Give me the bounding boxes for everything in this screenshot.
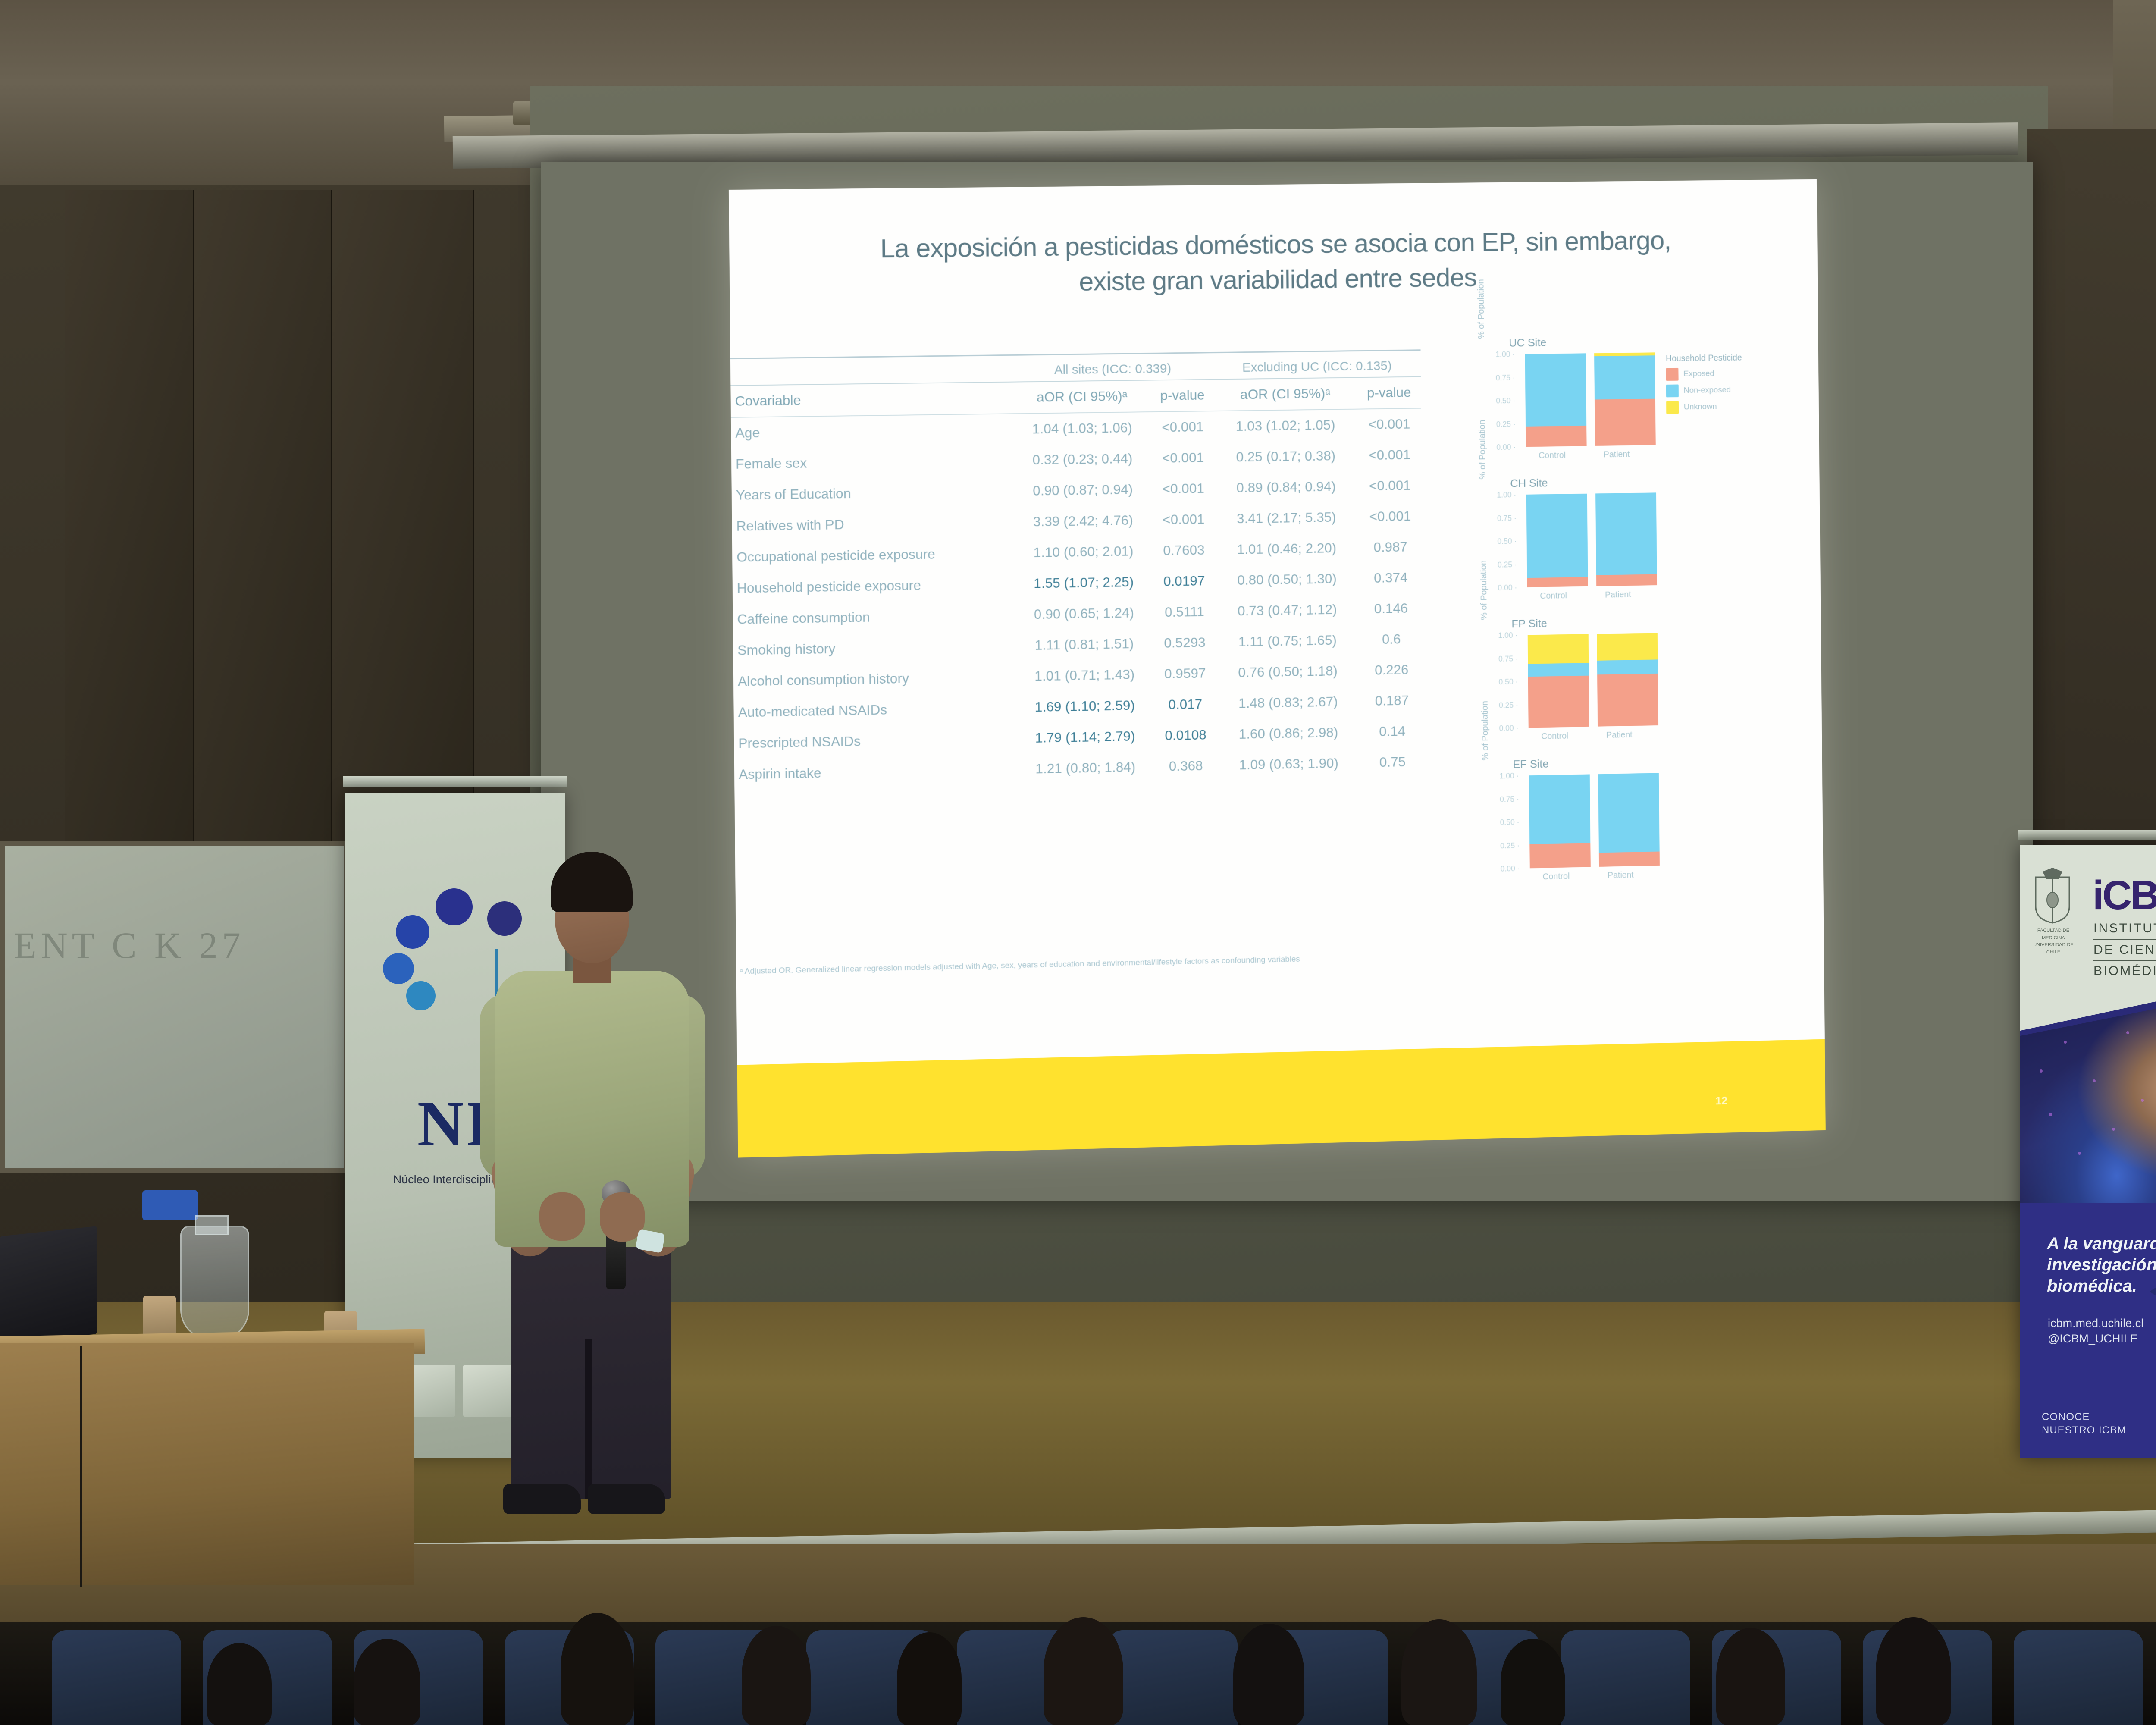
y-tick-label: 0.50 ·: [1497, 537, 1517, 546]
row-all-aor: 0.32 (0.23; 0.44): [1013, 443, 1152, 476]
row-exc-aor: 1.09 (0.63; 1.90): [1217, 747, 1361, 781]
stacked-bar: [1594, 352, 1656, 446]
row-exc-aor: 1.60 (0.86; 2.98): [1216, 717, 1360, 750]
x-tick-label: Control: [1523, 591, 1584, 602]
row-all-aor: 1.10 (0.60; 2.01): [1014, 535, 1153, 568]
site-chart-ch: % of PopulationCH Site0.00 ·0.25 ·0.50 ·…: [1477, 472, 1809, 613]
y-tick-label: 0.50 ·: [1496, 396, 1515, 405]
audience-seat-row: [0, 1626, 2156, 1725]
row-covariable: Female sex: [731, 445, 1013, 480]
conference-photo-scene: ENT C K 27 La exposición a pesticidas do…: [0, 0, 2156, 1725]
legend-swatch: [1666, 384, 1679, 397]
audience-member: [1233, 1624, 1304, 1725]
y-tick-label: 0.50 ·: [1498, 677, 1518, 687]
stacked-bar: [1529, 774, 1591, 868]
row-covariable: Age: [731, 414, 1013, 449]
chart-title: UC Site: [1509, 336, 1547, 350]
row-exc-aor: 0.25 (0.17; 0.38): [1214, 440, 1358, 473]
stacked-bar: [1526, 494, 1588, 587]
y-tick-label: 0.25 ·: [1496, 420, 1516, 429]
row-all-pvalue: 0.9597: [1154, 658, 1216, 690]
row-covariable: Smoking history: [733, 630, 1015, 666]
results-table: All sites (ICC: 0.339) Excluding UC (ICC…: [730, 349, 1425, 790]
row-exc-pvalue: 0.75: [1360, 746, 1425, 778]
y-tick-label: 0.00 ·: [1501, 864, 1520, 874]
banner-contact: icbm.med.uchile.cl @ICBM_UCHILE: [2048, 1315, 2156, 1347]
row-all-aor: 1.21 (0.80; 1.84): [1016, 751, 1155, 785]
legend-swatch: [1666, 401, 1679, 414]
right-banner-pole: [2018, 830, 2156, 840]
site-chart-ef: % of PopulationEF Site0.00 ·0.25 ·0.50 ·…: [1480, 751, 1811, 894]
row-covariable: Years of Education: [731, 476, 1013, 511]
col-exc-pvalue: p-value: [1357, 376, 1421, 409]
audience-member: [1876, 1617, 1951, 1725]
chart-y-ticks: 0.00 ·0.25 ·0.50 ·0.75 ·1.00 ·: [1490, 354, 1518, 447]
cable: [80, 1345, 82, 1587]
row-all-pvalue: 0.017: [1154, 688, 1216, 720]
audience-member: [1716, 1628, 1785, 1725]
col-all-pvalue: p-value: [1151, 379, 1213, 411]
bar-segment-exposed: [1599, 852, 1660, 867]
chart-y-ticks: 0.00 ·0.25 ·0.50 ·0.75 ·1.00 ·: [1492, 635, 1521, 728]
audience-seat: [2014, 1630, 2143, 1725]
bar-segment-exposed: [1595, 399, 1656, 446]
y-tick-label: 0.75 ·: [1498, 654, 1518, 664]
audience-member: [354, 1639, 420, 1725]
y-tick-label: 0.00 ·: [1498, 583, 1517, 592]
presenter-shirt: [495, 971, 689, 1247]
bar-segment-non-exposed: [1529, 774, 1591, 844]
row-exc-aor: 1.48 (0.83; 2.67): [1216, 686, 1360, 719]
row-covariable: Prescripted NSAIDs: [734, 723, 1016, 759]
row-exc-aor: 0.76 (0.50; 1.18): [1216, 655, 1360, 688]
y-tick-label: 0.00 ·: [1496, 443, 1516, 452]
left-banner-pole: [343, 776, 567, 787]
banner-qr-caption: CONOCE NUESTRO ICBM: [2042, 1410, 2126, 1437]
laptop: [0, 1226, 97, 1344]
bar-segment-exposed: [1596, 574, 1657, 586]
col-all-aor: aOR (CI 95%)ᵃ: [1012, 380, 1151, 414]
y-tick-label: 1.00 ·: [1498, 631, 1517, 640]
bar-segment-non-exposed: [1526, 494, 1588, 578]
row-all-pvalue: 0.7603: [1153, 534, 1215, 566]
row-covariable: Auto-medicated NSAIDs: [733, 692, 1015, 728]
audience-seat: [1108, 1630, 1238, 1725]
chart-title: FP Site: [1511, 617, 1547, 630]
icbm-logo: iCBM.: [2093, 872, 2156, 919]
row-exc-pvalue: <0.001: [1357, 439, 1422, 470]
row-all-pvalue: 0.368: [1155, 750, 1217, 782]
table-footnote: ᵃ Adjusted OR. Generalized linear regres…: [740, 951, 1413, 978]
banner-header-block: FACULTAD DE MEDICINA UNIVERSIDAD DE CHIL…: [2020, 845, 2156, 1031]
banner-tagline: A la vanguardia de la investigación biom…: [2047, 1233, 2156, 1296]
audience-seat: [52, 1630, 181, 1725]
chart-plot-area: [1525, 773, 1664, 868]
whiteboard-text: ENT C K 27: [14, 924, 245, 967]
banner-website: icbm.med.uchile.cl: [2048, 1315, 2156, 1331]
row-all-pvalue: <0.001: [1152, 442, 1214, 474]
row-exc-aor: 0.89 (0.84; 0.94): [1214, 471, 1358, 504]
y-tick-label: 1.00 ·: [1495, 350, 1515, 359]
x-tick-label: Control: [1522, 450, 1583, 461]
stacked-bar: [1597, 633, 1658, 726]
chart-y-ticks: 0.00 ·0.25 ·0.50 ·0.75 ·1.00 ·: [1491, 495, 1520, 588]
row-exc-pvalue: 0.226: [1360, 654, 1424, 686]
chart-ylabel: % of Population: [1477, 401, 1488, 499]
row-all-pvalue: 0.0197: [1153, 565, 1215, 597]
row-exc-aor: 0.80 (0.50; 1.30): [1215, 563, 1359, 596]
institute-line-3: BIOMÉDICAS: [2093, 962, 2156, 982]
chart-ylabel: % of Population: [1476, 260, 1487, 358]
row-all-aor: 1.11 (0.81; 1.51): [1015, 628, 1154, 661]
legend-title: Household Pesticide: [1666, 353, 1742, 364]
presenter-leg-split: [585, 1339, 592, 1499]
row-covariable: Household pesticide exposure: [733, 568, 1015, 604]
presenter-desk: [0, 1343, 414, 1585]
presenter-shoe-right: [588, 1484, 665, 1514]
row-exc-aor: 1.03 (1.02; 1.05): [1213, 409, 1357, 442]
chart-ylabel: % of Population: [1479, 541, 1490, 640]
legend-swatch: [1666, 368, 1678, 381]
row-all-aor: 1.69 (1.10; 2.59): [1015, 690, 1154, 723]
y-tick-label: 0.50 ·: [1500, 818, 1519, 827]
row-all-aor: 1.79 (1.14; 2.79): [1015, 720, 1155, 754]
institute-line-2: DE CIENCIAS: [2093, 941, 2156, 961]
row-all-pvalue: <0.001: [1153, 504, 1215, 536]
site-charts-panel: % of PopulationUC Site0.00 ·0.25 ·0.50 ·…: [1476, 332, 1812, 898]
row-covariable: Relatives with PD: [732, 507, 1014, 542]
legend-item: Non-exposed: [1666, 384, 1742, 398]
y-tick-label: 0.75 ·: [1496, 373, 1515, 382]
y-tick-label: 0.25 ·: [1499, 700, 1518, 710]
row-all-aor: 0.90 (0.65; 1.24): [1014, 597, 1153, 630]
chart-title: EF Site: [1513, 757, 1548, 771]
audience-member: [1401, 1619, 1477, 1725]
legend-item: Exposed: [1666, 367, 1742, 381]
chart-plot-area: [1522, 492, 1661, 587]
row-covariable: Occupational pesticide exposure: [732, 537, 1014, 573]
row-all-aor: 1.01 (0.71; 1.43): [1015, 659, 1154, 692]
right-banner-icbm: FACULTAD DE MEDICINA UNIVERSIDAD DE CHIL…: [2020, 845, 2156, 1458]
row-exc-pvalue: <0.001: [1358, 501, 1422, 532]
audience-member: [561, 1613, 634, 1725]
slide-title: La exposición a pesticidas domésticos se…: [729, 222, 1818, 304]
row-exc-pvalue: 0.14: [1360, 715, 1424, 747]
blue-container-box: [142, 1190, 198, 1220]
x-tick-label: Patient: [1590, 870, 1651, 881]
uchile-shield-icon: [2035, 876, 2070, 924]
x-tick-label: Patient: [1588, 590, 1648, 600]
site-chart-uc: % of PopulationUC Site0.00 ·0.25 ·0.50 ·…: [1476, 332, 1808, 472]
qr-caption-line1: CONOCE: [2042, 1410, 2126, 1424]
chart-title: CH Site: [1510, 477, 1548, 490]
row-exc-pvalue: <0.001: [1358, 470, 1422, 502]
institute-line-1: INSTITUTO: [2093, 919, 2156, 940]
y-tick-label: 1.00 ·: [1499, 772, 1519, 781]
chart-ylabel: % of Population: [1480, 682, 1491, 780]
presenter: [476, 852, 709, 1576]
audience-member: [1501, 1639, 1565, 1725]
presenter-hand-left: [539, 1192, 585, 1241]
legend-label: Exposed: [1683, 369, 1714, 379]
bar-segment-exposed: [1528, 676, 1589, 728]
row-all-pvalue: 0.0108: [1154, 719, 1216, 751]
bar-segment-non-exposed: [1598, 773, 1660, 853]
y-tick-label: 0.25 ·: [1498, 560, 1517, 569]
x-tick-label: Control: [1524, 731, 1585, 742]
row-all-pvalue: <0.001: [1152, 411, 1214, 443]
legend-label: Unknown: [1684, 402, 1717, 412]
row-all-pvalue: 0.5111: [1153, 596, 1216, 628]
audience-member: [897, 1632, 962, 1725]
row-exc-pvalue: 0.146: [1359, 593, 1423, 624]
chart-legend: Household PesticideExposedNon-exposedUnk…: [1666, 353, 1742, 418]
row-exc-pvalue: 0.374: [1359, 562, 1423, 594]
whiteboard: ENT C K 27: [0, 841, 349, 1173]
group-header-all-sites: All sites (ICC: 0.339): [1012, 353, 1213, 382]
col-exc-aor: aOR (CI 95%)ᵃ: [1213, 377, 1357, 411]
wall-panel-3: [332, 190, 474, 845]
row-all-aor: 0.90 (0.87; 0.94): [1013, 474, 1153, 506]
audience-member: [742, 1626, 811, 1725]
legend-item: Unknown: [1666, 400, 1742, 414]
bar-segment-unknown: [1528, 634, 1589, 664]
bar-segment-exposed: [1597, 674, 1658, 727]
bar-segment-non-exposed: [1528, 663, 1589, 677]
audience-seat: [1561, 1630, 1690, 1725]
bar-segment-exposed: [1529, 843, 1591, 868]
row-all-pvalue: <0.001: [1152, 473, 1214, 505]
row-covariable: Aspirin intake: [734, 754, 1016, 790]
slide-page-number: 12: [1715, 1094, 1727, 1107]
x-tick-label: Patient: [1589, 730, 1650, 740]
banner-social-handle: @ICBM_UCHILE: [2048, 1331, 2156, 1346]
bar-segment-non-exposed: [1594, 355, 1655, 400]
y-tick-label: 0.00 ·: [1499, 724, 1518, 733]
row-exc-pvalue: 0.6: [1359, 623, 1423, 655]
row-exc-pvalue: 0.987: [1358, 531, 1423, 563]
chart-plot-area: [1523, 633, 1663, 728]
col-covariable: Covariable: [730, 382, 1012, 417]
bar-segment-exposed: [1527, 577, 1588, 587]
y-tick-label: 0.75 ·: [1500, 795, 1519, 804]
row-all-aor: 3.39 (2.42; 4.76): [1013, 505, 1153, 537]
audience-member: [207, 1643, 272, 1725]
row-covariable: Alcohol consumption history: [733, 661, 1015, 697]
row-exc-aor: 0.73 (0.47; 1.12): [1215, 594, 1359, 627]
presentation-slide: La exposición a pesticidas domésticos se…: [729, 179, 1826, 1158]
presenter-shoe-left: [503, 1484, 581, 1514]
row-all-aor: 1.04 (1.03; 1.06): [1012, 411, 1152, 445]
stacked-bar: [1528, 634, 1589, 728]
row-exc-pvalue: 0.187: [1360, 685, 1424, 717]
bar-segment-non-exposed: [1597, 660, 1658, 675]
presenter-hair: [551, 852, 633, 912]
stacked-bar: [1598, 773, 1660, 867]
bar-segment-non-exposed: [1525, 353, 1586, 427]
y-tick-label: 0.75 ·: [1497, 514, 1517, 523]
x-tick-label: Control: [1526, 871, 1586, 882]
chart-y-ticks: 0.00 ·0.25 ·0.50 ·0.75 ·1.00 ·: [1494, 776, 1522, 869]
bar-segment-exposed: [1526, 426, 1587, 447]
icbm-institute-name: INSTITUTO DE CIENCIAS BIOMÉDICAS: [2093, 919, 2156, 983]
uchile-name-line: UNIVERSIDAD DE CHILE: [2028, 941, 2079, 956]
row-exc-aor: 1.01 (0.46; 2.20): [1215, 532, 1359, 565]
results-table-body: Age1.04 (1.03; 1.06)<0.0011.03 (1.02; 1.…: [731, 408, 1425, 790]
chart-plot-area: [1521, 352, 1660, 447]
stacked-bar: [1595, 492, 1657, 586]
wall-panel-1: [65, 190, 194, 845]
row-exc-pvalue: <0.001: [1357, 408, 1421, 440]
bar-segment-non-exposed: [1595, 492, 1657, 575]
y-tick-label: 1.00 ·: [1497, 490, 1516, 499]
stacked-bar: [1525, 353, 1586, 447]
site-chart-fp: % of PopulationFP Site0.00 ·0.25 ·0.50 ·…: [1479, 612, 1810, 753]
uchile-faculty-line: FACULTAD DE MEDICINA: [2028, 927, 2079, 941]
bar-segment-unknown: [1597, 633, 1658, 661]
row-exc-aor: 1.11 (0.75; 1.65): [1216, 624, 1360, 658]
group-header-blank: [730, 355, 1012, 385]
row-all-pvalue: 0.5293: [1153, 627, 1216, 659]
row-covariable: Caffeine consumption: [733, 599, 1015, 635]
uchile-caption: FACULTAD DE MEDICINA UNIVERSIDAD DE CHIL…: [2028, 927, 2079, 956]
row-exc-aor: 3.41 (2.17; 5.35): [1214, 502, 1358, 534]
x-tick-label: Patient: [1586, 449, 1647, 460]
water-pitcher: [180, 1226, 249, 1340]
qr-caption-line2: NUESTRO ICBM: [2042, 1424, 2126, 1437]
audience-member: [1044, 1617, 1123, 1725]
wall-panel-2: [194, 190, 332, 845]
row-all-aor: 1.55 (1.07; 2.25): [1014, 566, 1153, 599]
legend-label: Non-exposed: [1683, 386, 1731, 395]
group-header-excluding-uc: Excluding UC (ICC: 0.135): [1213, 350, 1421, 379]
y-tick-label: 0.25 ·: [1500, 841, 1520, 850]
